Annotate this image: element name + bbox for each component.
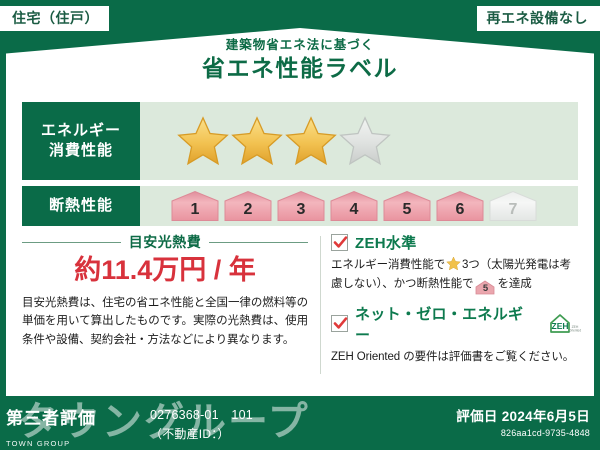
check-head-net-zero-energy: ネット・ゼロ・エネルギー ZEH ZEH Oriented xyxy=(331,303,582,345)
inline-house-level-icon: 5 xyxy=(475,280,495,295)
utility-cost-note: 目安光熱費は、住宅の省エネ性能と全国一律の燃料等の単価を用いて算出したものです。… xyxy=(22,294,308,350)
insulation-level-5: 5 xyxy=(382,190,432,222)
title-subtitle: 建築物省エネ法に基づく xyxy=(0,38,600,53)
footer-bar: 第三者評価 TOWN GROUP 0276368-01 101 （不動産ID：）… xyxy=(0,396,600,450)
column-divider xyxy=(320,236,321,374)
utility-cost-label: 目安光熱費 xyxy=(129,232,202,252)
star-filled-icon xyxy=(230,115,284,167)
insulation-level-3: 3 xyxy=(276,190,326,222)
insulation-level-value: 6 xyxy=(456,201,465,222)
insulation-level-6: 6 xyxy=(435,190,485,222)
row-label-energy: エネルギー 消費性能 xyxy=(22,102,140,180)
divider-line-left xyxy=(22,242,121,243)
check-body-zeh-standard: エネルギー消費性能で3つ（太陽光発電は考慮しない）、かつ断熱性能で5を達成 xyxy=(331,256,582,295)
utility-cost-heading: 目安光熱費 xyxy=(22,232,308,252)
svg-text:ZEH: ZEH xyxy=(552,321,569,331)
label-card: エネルギー 消費性能 断熱性能 1234567 目安光熱費 xyxy=(6,84,594,396)
divider-line-right xyxy=(209,242,308,243)
row-energy-performance: エネルギー 消費性能 xyxy=(22,102,578,180)
certification-checks: ZEH水準 エネルギー消費性能で3つ（太陽光発電は考慮しない）、かつ断熱性能で5… xyxy=(331,232,582,374)
check-item-zeh-standard: ZEH水準 エネルギー消費性能で3つ（太陽光発電は考慮しない）、かつ断熱性能で5… xyxy=(331,232,582,295)
inline-house-level-value: 5 xyxy=(475,280,495,297)
footer-property-id-sub: （不動産ID：） xyxy=(150,425,253,443)
footer-evaluation-date-value: 評価日 2024年6月5日 xyxy=(456,405,590,425)
star-filled-icon xyxy=(284,115,338,167)
insulation-level-value: 5 xyxy=(403,201,412,222)
badge-renewable-equipment: 再エネ設備なし xyxy=(477,6,600,31)
star-empty-icon xyxy=(338,115,392,167)
insulation-level-4: 4 xyxy=(329,190,379,222)
check-body-zeh-part1: エネルギー消費性能で xyxy=(331,259,445,271)
star-filled-icon xyxy=(176,115,230,167)
utility-cost-block: 目安光熱費 約11.4万円 / 年 目安光熱費は、住宅の省エネ性能と全国一律の燃… xyxy=(22,232,320,374)
insulation-level-1: 1 xyxy=(170,190,220,222)
row-label-insulation: 断熱性能 xyxy=(22,186,140,226)
star-rating xyxy=(140,102,578,180)
row-label-energy-line2: 消費性能 xyxy=(49,141,113,161)
check-body-zeh-part2: を達成 xyxy=(497,278,531,290)
svg-text:Oriented: Oriented xyxy=(569,328,581,332)
footer-logo-sub: TOWN GROUP xyxy=(6,439,96,448)
check-item-net-zero-energy: ネット・ゼロ・エネルギー ZEH ZEH Oriented ZEH Orient… xyxy=(331,303,582,367)
insulation-level-value: 4 xyxy=(350,201,359,222)
badge-building-type: 住宅（住戸） xyxy=(0,6,109,31)
check-body-net-zero-energy: ZEH Oriented の要件は評価書をご覧ください。 xyxy=(331,348,582,367)
inline-star-icon xyxy=(446,256,461,271)
row-label-insulation-text: 断熱性能 xyxy=(49,196,113,216)
title-block: 建築物省エネ法に基づく 省エネ性能ラベル xyxy=(0,38,600,83)
footer-property-id: 0276368-01 101 （不動産ID：） xyxy=(150,406,253,443)
check-title-zeh-standard: ZEH水準 xyxy=(355,232,417,253)
insulation-level-value: 2 xyxy=(244,201,253,222)
check-head-zeh-standard: ZEH水準 xyxy=(331,232,582,253)
insulation-level-value: 7 xyxy=(509,201,518,222)
insulation-level-2: 2 xyxy=(223,190,273,222)
insulation-level-scale: 1234567 xyxy=(140,186,578,226)
zeh-oriented-logo-icon: ZEH ZEH Oriented xyxy=(548,312,582,336)
footer-logo: 第三者評価 TOWN GROUP xyxy=(6,404,96,448)
insulation-level-value: 1 xyxy=(191,201,200,222)
checkbox-checked-icon-2[interactable] xyxy=(331,315,348,332)
page-title: 省エネ性能ラベル xyxy=(0,54,600,83)
row-label-energy-line1: エネルギー xyxy=(41,121,121,141)
insulation-level-7: 7 xyxy=(488,190,538,222)
check-title-net-zero-energy: ネット・ゼロ・エネルギー xyxy=(355,303,538,345)
row-insulation-performance: 断熱性能 1234567 xyxy=(22,186,578,226)
footer-property-id-value: 0276368-01 101 xyxy=(150,406,253,425)
energy-label-root: 住宅（住戸） 再エネ設備なし 建築物省エネ法に基づく 省エネ性能ラベル エネルギ… xyxy=(0,0,600,450)
footer-uid: 826aa1cd-9735-4848 xyxy=(456,428,590,438)
rating-rows: エネルギー 消費性能 断熱性能 1234567 xyxy=(22,102,578,232)
footer-evaluation-date: 評価日 2024年6月5日 826aa1cd-9735-4848 xyxy=(456,405,590,438)
utility-cost-amount: 約11.4万円 / 年 xyxy=(22,254,308,288)
footer-logo-mark: 第三者評価 xyxy=(6,404,96,429)
checkbox-checked-icon[interactable] xyxy=(331,234,348,251)
insulation-level-value: 3 xyxy=(297,201,306,222)
lower-section: 目安光熱費 約11.4万円 / 年 目安光熱費は、住宅の省エネ性能と全国一律の燃… xyxy=(22,232,582,374)
